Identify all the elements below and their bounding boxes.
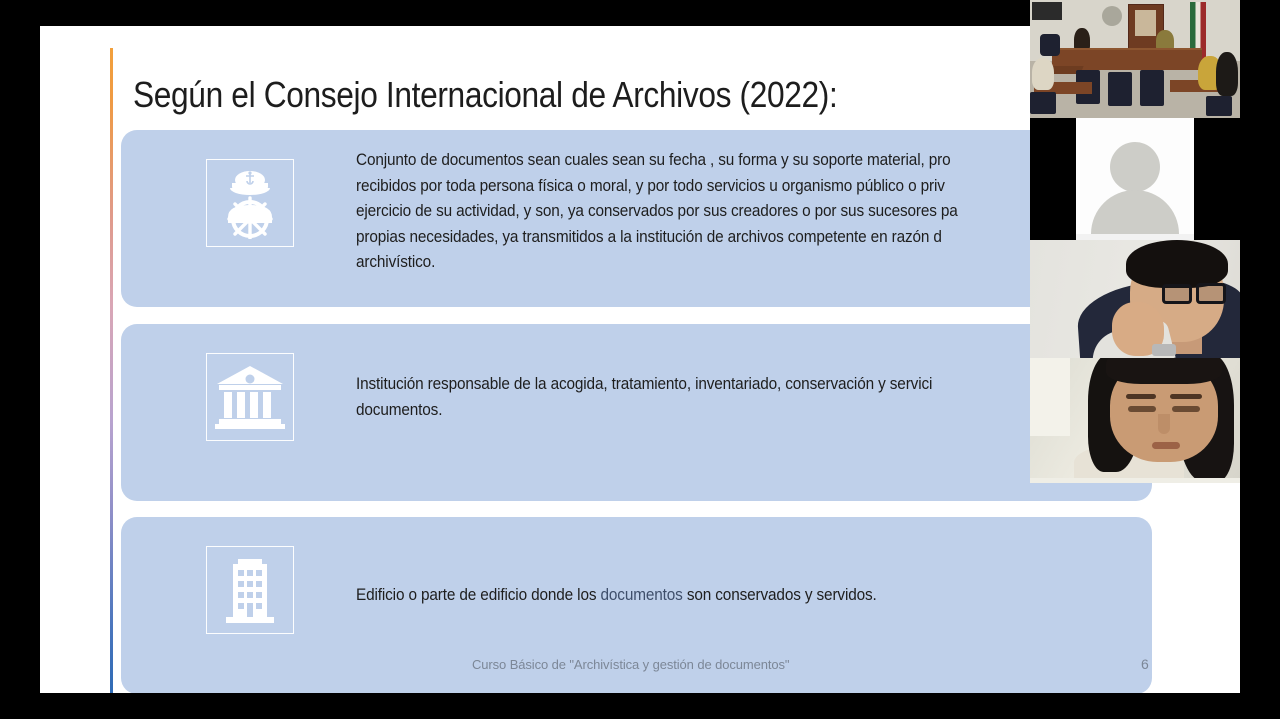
slide-accent-bar [110, 48, 113, 693]
card-text-line: Conjunto de documentos sean cuales sean … [356, 148, 1072, 174]
card-text-line: Institución responsable de la acogida, t… [356, 372, 1072, 398]
card-body-text: Conjunto de documentos sean cuales sean … [356, 148, 1072, 276]
card-text-line: Edificio o parte de edificio donde los d… [356, 583, 1072, 609]
card-text-segment: son conservados y servidos. [683, 586, 877, 604]
card-text-segment: Edificio o parte de edificio donde los [356, 586, 601, 604]
card-text-line: ejercicio de su actividad, y son, ya con… [356, 199, 1072, 225]
captain-helm-icon [206, 159, 294, 247]
card-text-line: archivístico. [356, 250, 1072, 276]
office-building-icon [206, 546, 294, 634]
card-body-text: Institución responsable de la acogida, t… [356, 372, 1072, 423]
avatar-placeholder-video-tile[interactable] [1030, 118, 1240, 240]
card-text-line: recibidos por toda persona física o mora… [356, 174, 1072, 200]
avatar [1110, 142, 1160, 192]
card-body-text: Edificio o parte de edificio donde los d… [356, 583, 1072, 609]
content-card: Institución responsable de la acogida, t… [121, 324, 1152, 501]
slide-footer-note: Curso Básico de "Archivística y gestión … [472, 657, 789, 672]
card-text-line: propias necesidades, ya transmitidos a l… [356, 225, 1072, 251]
screen-root: Según el Consejo Internacional de Archiv… [0, 0, 1280, 719]
participant-dark-hair-video-tile[interactable] [1030, 358, 1240, 483]
slide-title: Según el Consejo Internacional de Archiv… [133, 74, 1013, 116]
classical-building-icon [206, 353, 294, 441]
card-text-highlight: documentos [601, 586, 683, 604]
video-participants-panel [1030, 0, 1240, 483]
conference-room-video-tile[interactable] [1030, 0, 1240, 118]
participant-glasses-video-tile[interactable] [1030, 240, 1240, 358]
slide-page-number: 6 [1141, 656, 1149, 672]
card-text-line: documentos. [356, 398, 1072, 424]
content-card: Conjunto de documentos sean cuales sean … [121, 130, 1152, 307]
